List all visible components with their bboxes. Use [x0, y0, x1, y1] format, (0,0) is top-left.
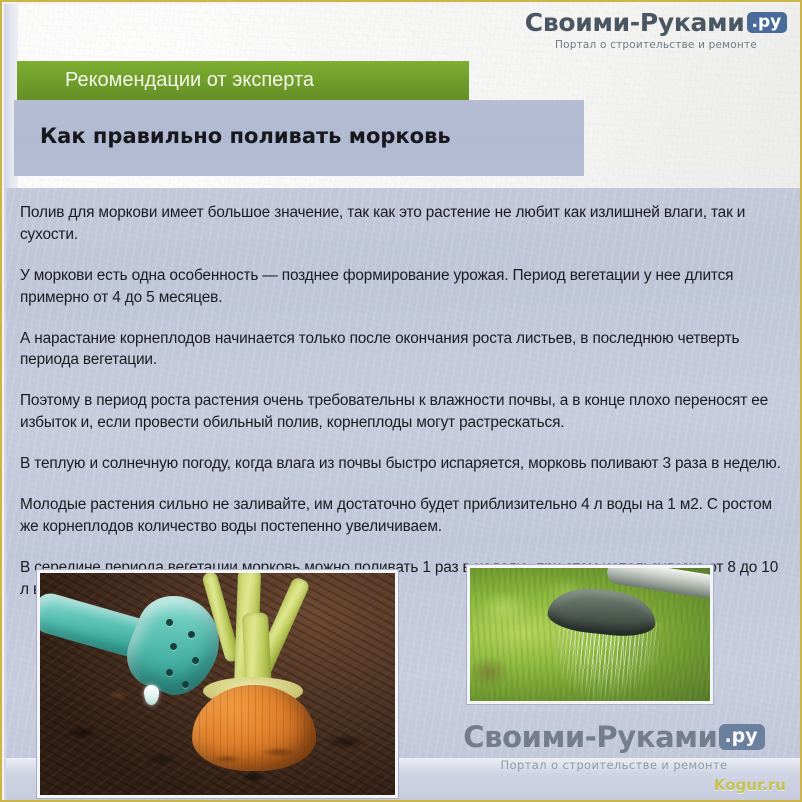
paragraph: Молодые растения сильно не заливайте, им…	[20, 494, 788, 538]
page-title: Как правильно поливать морковь	[40, 124, 451, 148]
logo-row: Своими-Руками .ру	[522, 8, 790, 37]
expert-recommendation-banner: Рекомендации от эксперта	[17, 61, 469, 100]
paragraph: Полив для моркови имеет большое значение…	[20, 202, 788, 246]
watermark-name: Своими-Руками	[463, 720, 717, 754]
rose-hole	[166, 619, 173, 626]
paragraph: У моркови есть одна особенность — поздне…	[20, 265, 788, 309]
rose-hole	[182, 681, 189, 688]
rose-hole	[166, 669, 173, 676]
footer-watermark-logo: Своими-Руками .ру Портал о строительстве…	[454, 720, 774, 772]
rose-hole	[170, 643, 177, 650]
watermark-tagline: Портал о строительстве и ремонте	[454, 758, 774, 772]
paragraph: А нарастание корнеплодов начинается толь…	[20, 328, 788, 372]
watermark-row: Своими-Руками .ру	[454, 720, 774, 754]
rose-hole	[192, 657, 199, 664]
banner-label: Рекомендации от эксперта	[65, 69, 314, 92]
logo-tagline: Портал о строительстве и ремонте	[522, 39, 790, 51]
infographic-page: Своими-Руками .ру Портал о строительстве…	[0, 0, 802, 802]
photo-carrot-watering	[37, 570, 398, 798]
site-logo[interactable]: Своими-Руками .ру Портал о строительстве…	[522, 8, 790, 51]
article-text: Полив для моркови имеет большое значение…	[20, 202, 788, 619]
rose-hole	[188, 631, 195, 638]
paragraph: В теплую и солнечную погоду, когда влага…	[20, 453, 788, 475]
title-block: Как правильно поливать морковь	[14, 100, 584, 176]
watermark-domain-badge: .ру	[719, 724, 764, 750]
logo-domain-badge: .ру	[747, 12, 787, 33]
photo-watering-greens	[467, 565, 713, 704]
paragraph: Поэтому в период роста растения очень тр…	[20, 390, 788, 434]
logo-name: Своими-Руками	[525, 8, 745, 37]
source-watermark: Kogur.ru	[714, 776, 786, 794]
